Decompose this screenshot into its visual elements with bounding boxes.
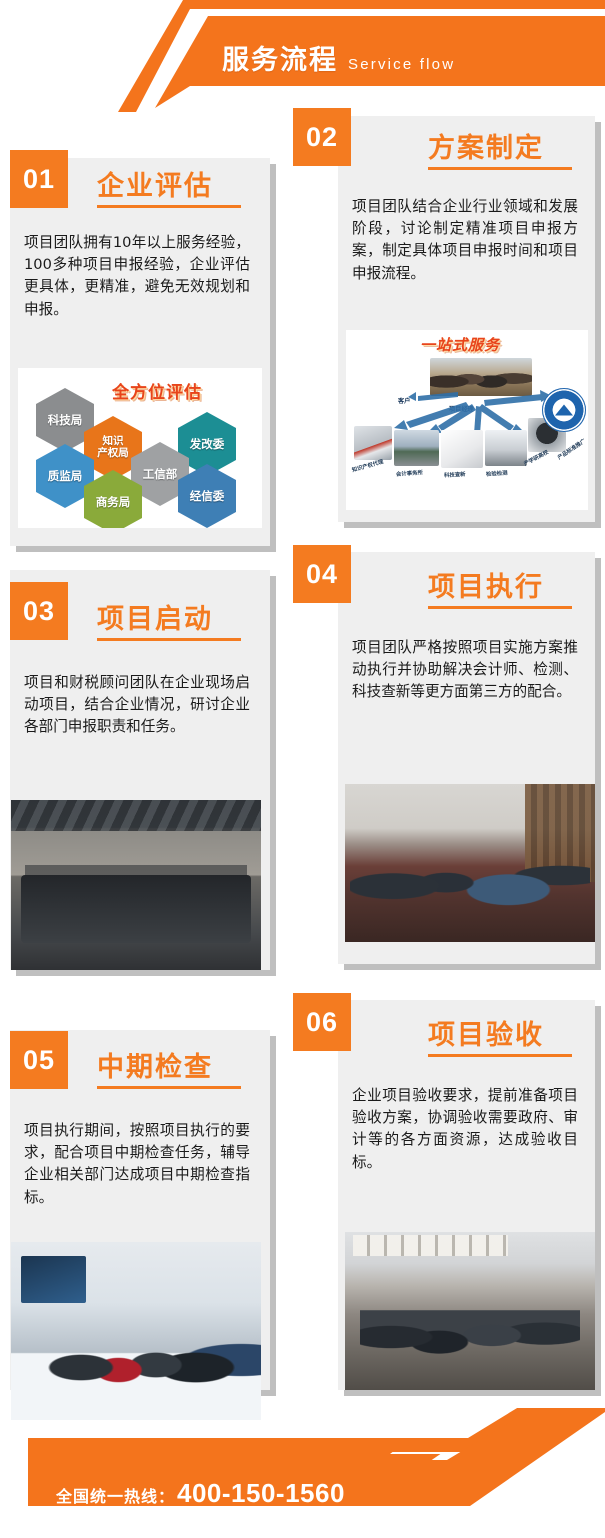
one-stop-node-photo-3 [485, 430, 527, 466]
card-06-photo-acceptance-meeting [345, 1232, 595, 1390]
card-01-number-badge: 01 [10, 150, 68, 208]
card-04-number: 04 [306, 559, 338, 590]
card-01-body: 项目团队拥有10年以上服务经验，100多种项目申报经验，企业评估更具体，更精准，… [24, 232, 250, 321]
service-flow-infographic: 服务流程 Service flow 01 企业评估 项目团队拥有10年以上服务经… [0, 0, 605, 1538]
card-02-body: 项目团队结合企业行业领域和发展阶段，讨论制定精准项目申报方案，制定具体项目申报时… [352, 196, 578, 285]
card-04-title-rule [428, 606, 572, 609]
card-shadow-right [595, 558, 601, 970]
card-06-title: 项目验收 [428, 1013, 544, 1052]
card-03-title-rule [97, 638, 241, 641]
card-shadow-right [270, 164, 276, 552]
card-shadow-right [270, 1036, 276, 1396]
card-shadow-right [270, 576, 276, 976]
card-03-number-badge: 03 [10, 582, 68, 640]
card-shadow-bottom [344, 1390, 601, 1396]
card-05-title-rule [97, 1086, 241, 1089]
hex-diagram-title: 全方位评估 [112, 378, 202, 403]
card-02-title-rule [428, 167, 572, 170]
one-stop-node-label-2: 科技查新 [444, 470, 466, 479]
card-05-photo-showroom-visit [11, 1242, 261, 1420]
card-05-body: 项目执行期间，按照项目执行的要求，配合项目中期检查任务，辅导企业相关部门达成项目… [24, 1120, 250, 1209]
card-06-body: 企业项目验收要求，提前准备项目验收方案，协调验收需要政府、审计等的各方面资源，达… [352, 1085, 578, 1174]
card-01-title: 企业评估 [97, 164, 213, 203]
card-02-title: 方案制定 [428, 126, 544, 165]
card-03-body: 项目和财税顾问团队在企业现场启动项目，结合企业情况，研讨企业各部门申报职责和任务… [24, 672, 250, 739]
card-04-title: 项目执行 [428, 565, 544, 604]
hex-node-label: 质监局 [48, 470, 83, 483]
hex-node-label: 发改委 [190, 438, 225, 451]
one-stop-node-photo-2 [441, 430, 483, 468]
hex-node-label: 知识 产权局 [97, 436, 129, 460]
card-shadow-bottom [16, 546, 276, 552]
one-stop-node-label-3: 检验检测 [486, 469, 508, 478]
card-06-number: 06 [306, 1007, 338, 1038]
header-banner-shape [0, 0, 605, 112]
card-02-media-one-stop-service: 一站式服务 客户 项目经理 知识产权 [346, 330, 588, 510]
one-stop-service-iso-seal [542, 388, 586, 432]
card-05-number: 05 [23, 1045, 55, 1076]
card-01-media-hex-diagram: 全方位评估 科技局 知识 产权局 发改委 质监局 工信部 经信委 商务局 [18, 368, 262, 528]
card-03-title: 项目启动 [97, 597, 213, 636]
card-shadow-right [595, 1006, 601, 1396]
hex-node-label: 经信委 [190, 490, 225, 503]
card-shadow-bottom [16, 970, 276, 976]
card-02-number-badge: 02 [293, 108, 351, 166]
card-06-title-rule [428, 1054, 572, 1057]
card-05-number-badge: 05 [10, 1031, 68, 1089]
one-stop-node-photo-1 [394, 430, 439, 466]
page-header: 服务流程 Service flow [0, 0, 605, 112]
card-06-number-badge: 06 [293, 993, 351, 1051]
hex-node-label: 工信部 [143, 468, 178, 481]
hex-node-label: 科技局 [48, 414, 83, 427]
card-03-photo-conference-room [11, 800, 261, 970]
card-04-photo-working-meeting [345, 784, 595, 942]
footer-banner-shape [0, 1408, 605, 1538]
card-04-body: 项目团队严格按照项目实施方案推动执行并协助解决会计师、检测、科技查新等更方面第三… [352, 637, 578, 704]
card-shadow-right [595, 122, 601, 528]
card-shadow-bottom [344, 964, 601, 970]
card-05-title: 中期检查 [97, 1045, 213, 1084]
card-04-number-badge: 04 [293, 545, 351, 603]
page-footer: 全国统一热线： 400-150-1560 [0, 1408, 605, 1538]
card-02-number: 02 [306, 122, 338, 153]
one-stop-node-photo-0 [354, 426, 392, 460]
card-01-number: 01 [23, 164, 55, 195]
hex-node-label: 商务局 [96, 496, 131, 509]
card-01-title-rule [97, 205, 241, 208]
card-03-number: 03 [23, 596, 55, 627]
card-shadow-bottom [344, 522, 601, 528]
